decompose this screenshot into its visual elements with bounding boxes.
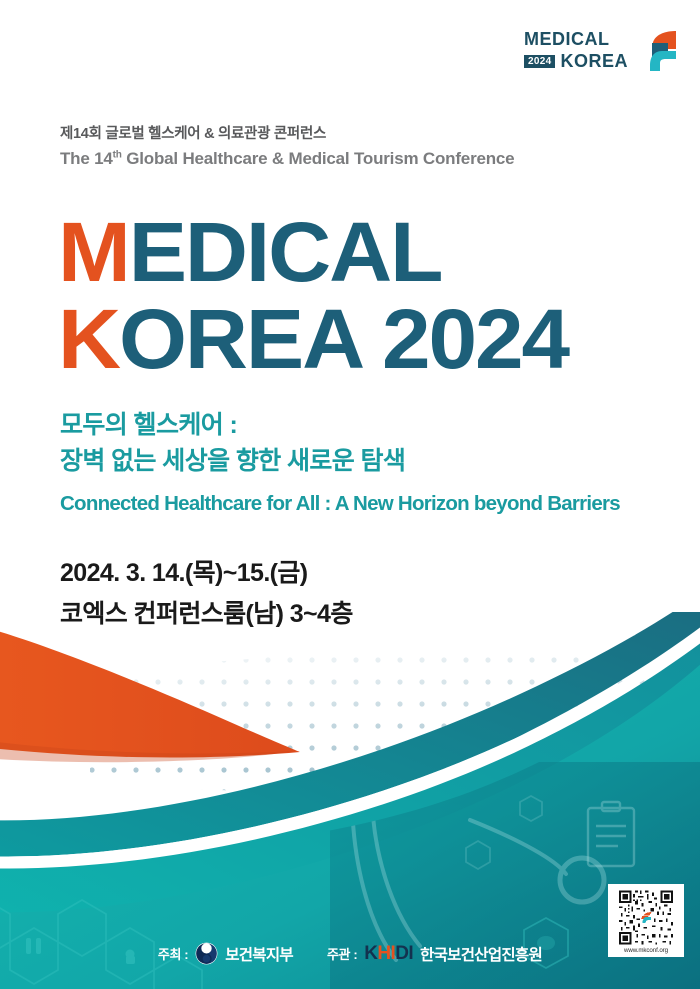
conference-kicker-korean: 제14회 글로벌 헬스케어 & 의료관광 콘퍼런스 [60, 122, 326, 143]
qr-caption: www.mkconf.org [613, 947, 679, 954]
theme-korean-line2: 장벽 없는 세상을 향한 새로운 탐색 [60, 444, 405, 480]
qr-card[interactable]: www.mkconf.org [608, 884, 684, 957]
title-line-korea: KOREA 2024 [58, 299, 568, 380]
title-accent-m: M [58, 205, 129, 299]
title-rest-orea-2024: OREA 2024 [119, 292, 568, 386]
logo-line-korea: KOREA [560, 52, 628, 70]
title-rest-edical: EDICAL [129, 205, 442, 299]
logo-year-badge: 2024 [524, 55, 555, 68]
kicker-en-pre: The 14 [60, 149, 113, 168]
medical-cross-swoosh-icon [632, 27, 678, 73]
medical-korea-logo: MEDICAL 2024 KOREA [524, 26, 678, 74]
kicker-en-ordinal: th [113, 149, 122, 160]
wave-graphic [0, 612, 700, 989]
theme-korean: 모두의 헬스케어 : 장벽 없는 세상을 향한 새로운 탐색 [60, 408, 405, 479]
page-title: MEDICAL KOREA 2024 [58, 212, 548, 379]
kicker-en-post: Global Healthcare & Medical Tourism Conf… [122, 149, 515, 168]
qr-code-icon[interactable] [613, 889, 679, 946]
conference-kicker-english: The 14th Global Healthcare & Medical Tou… [60, 149, 514, 169]
logo-line-korea-row: 2024 KOREA [524, 52, 628, 70]
theme-korean-line1: 모두의 헬스케어 : [60, 408, 405, 444]
logo-line-medical: MEDICAL [524, 30, 610, 48]
title-line-medical: MEDICAL [58, 212, 568, 293]
title-accent-k: K [58, 292, 119, 386]
event-date: 2024. 3. 14.(목)~15.(금) [60, 553, 308, 589]
logo-wordmark: MEDICAL 2024 KOREA [524, 30, 628, 70]
qr-center-logo-icon [640, 911, 652, 923]
poster-canvas: MEDICAL 2024 KOREA 제14회 글로벌 헬스케어 & 의료관광 … [0, 0, 700, 989]
wave-graphic-svg [0, 612, 700, 989]
theme-english: Connected Healthcare for All : A New Hor… [60, 492, 620, 516]
